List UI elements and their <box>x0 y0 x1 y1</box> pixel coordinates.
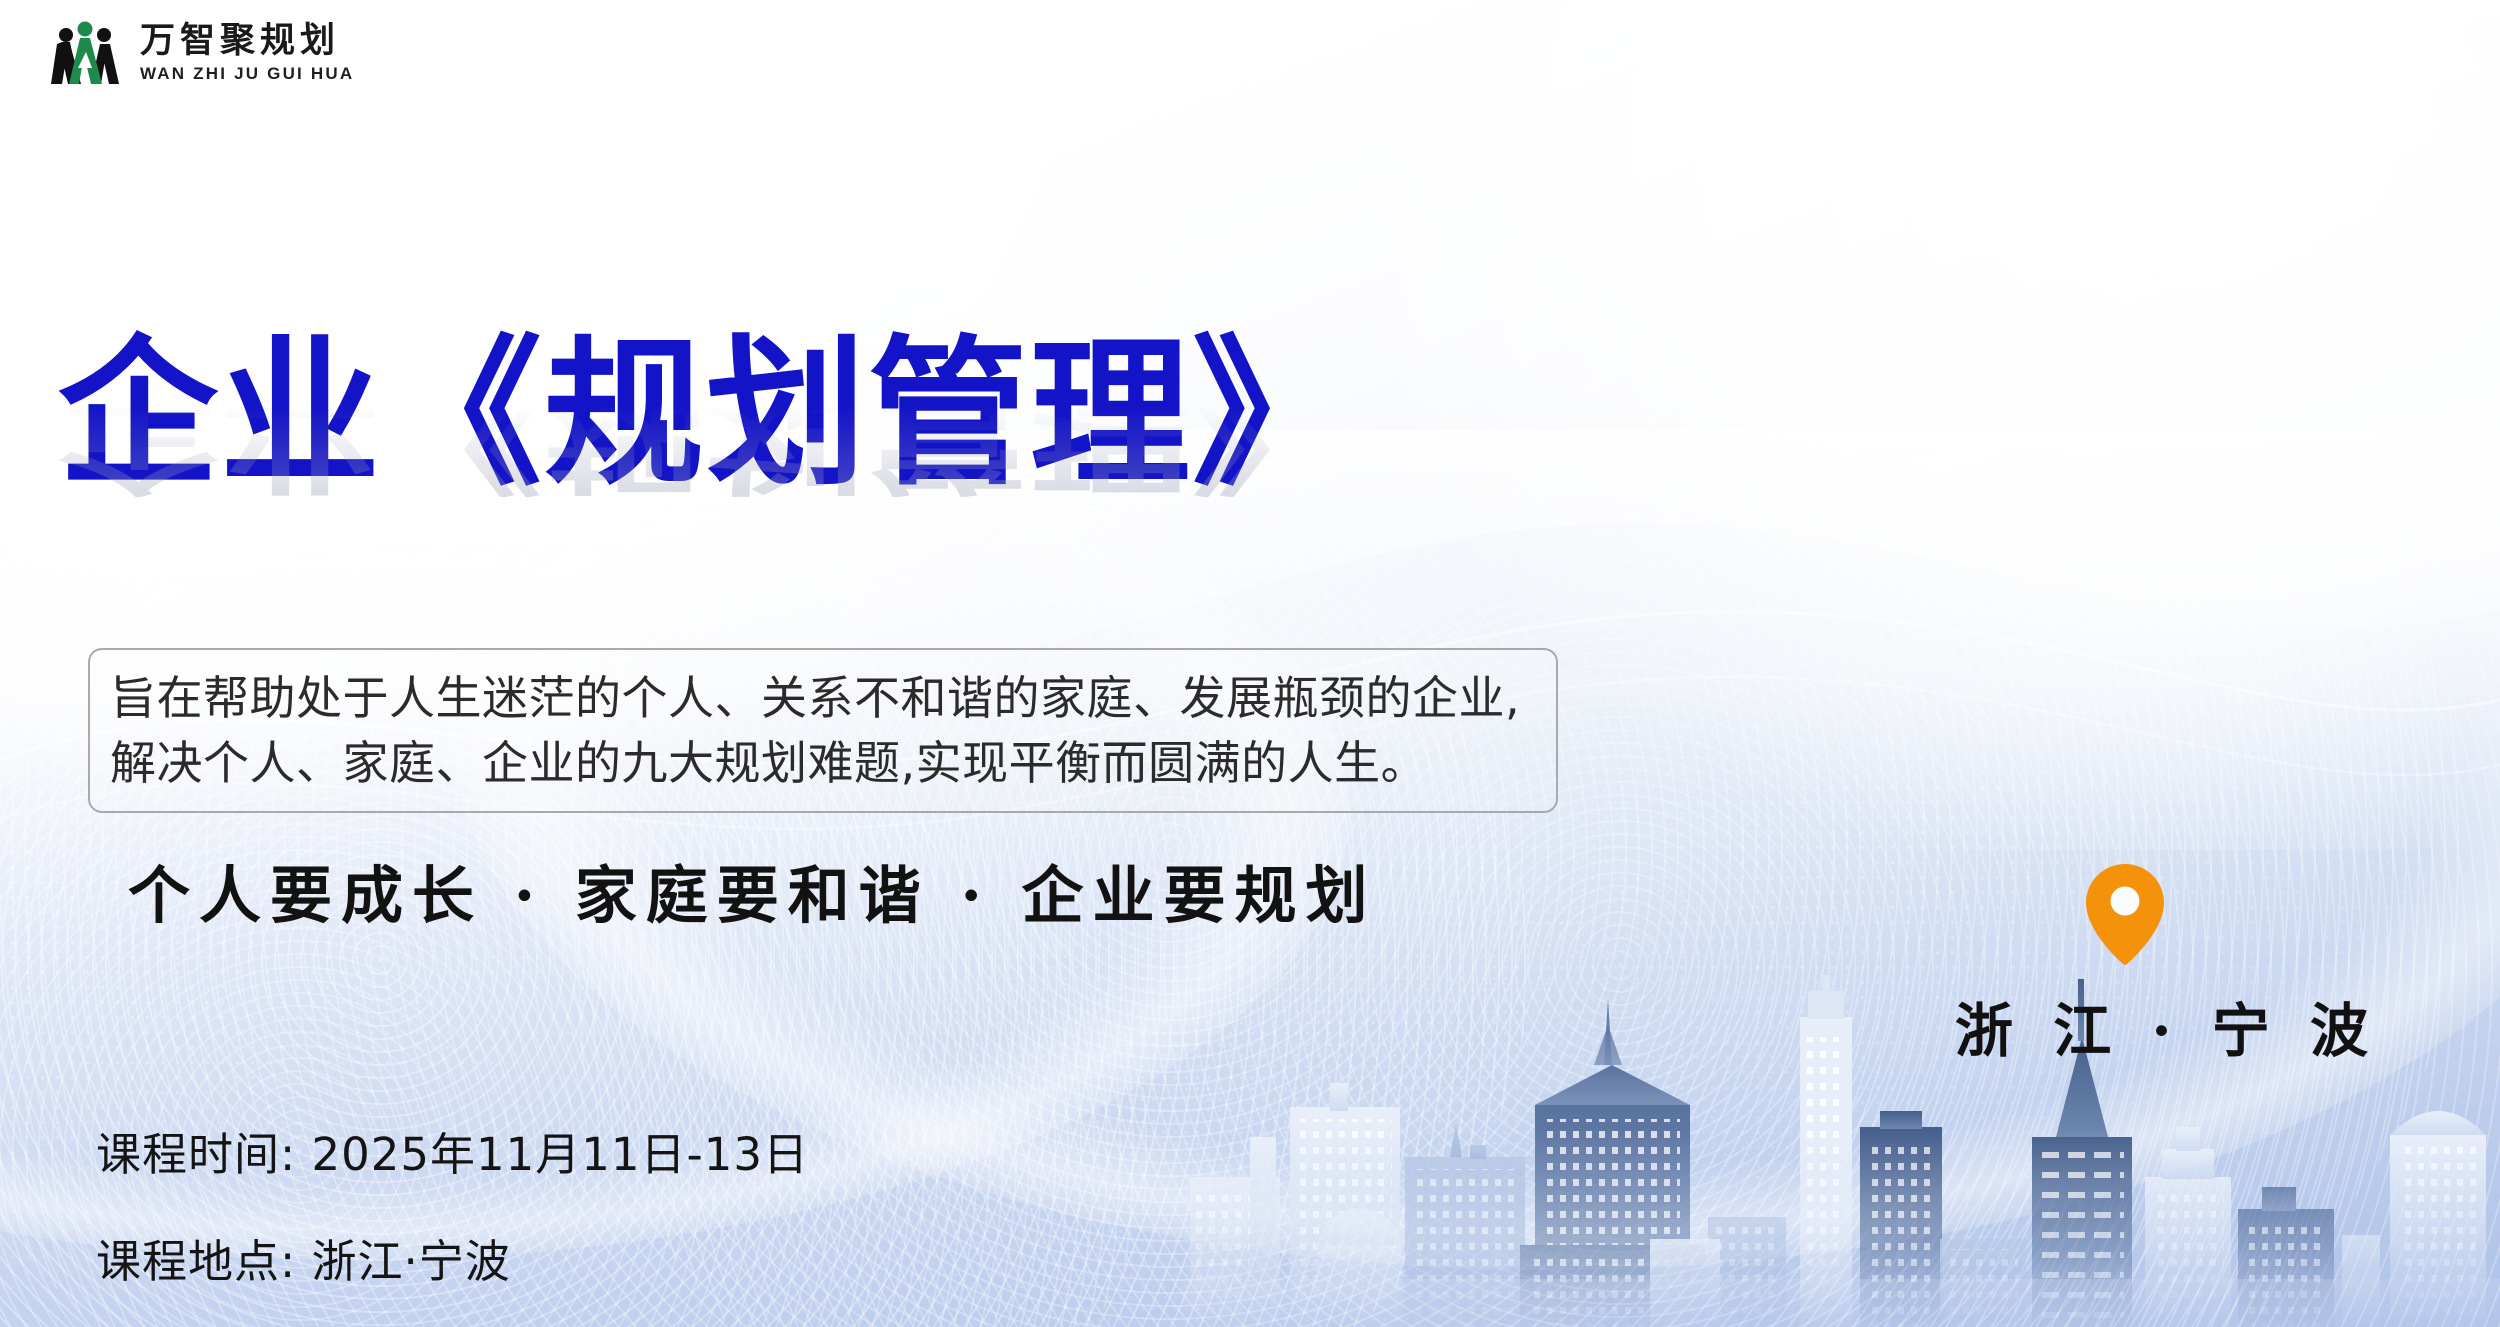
course-time: 课程时间: 2025年11月11日-13日 <box>96 1118 809 1183</box>
location-block: 浙 江 · 宁 波 <box>1955 862 2295 1068</box>
description-line-2: 解决个人、家庭、企业的九大规划难题,实现平衡而圆满的人生。 <box>110 731 1536 796</box>
brand-logo[interactable]: 万智聚规划 WAN ZHI JU GUI HUA <box>48 18 354 86</box>
course-place: 课程地点: 浙江·宁波 <box>96 1225 809 1290</box>
description-line-1: 旨在帮助处于人生迷茫的个人、关系不和谐的家庭、发展瓶颈的企业, <box>110 666 1536 731</box>
poster-canvas: 万智聚规划 WAN ZHI JU GUI HUA 企业《规划管理》 企业《规划管… <box>0 0 2500 1327</box>
hero-title-block: 企业《规划管理》 企业《规划管理》 <box>58 332 1618 660</box>
brand-name-cn: 万智聚规划 <box>140 23 354 58</box>
description-box: 旨在帮助处于人生迷茫的个人、关系不和谐的家庭、发展瓶颈的企业, 解决个人、家庭、… <box>88 648 1558 813</box>
page-title: 企业《规划管理》 <box>58 332 1618 495</box>
three-people-logo-icon <box>48 18 122 86</box>
slogan-text: 个人要成长 · 家庭要和谐 · 企业要规划 <box>128 845 1377 935</box>
location-city: 浙 江 · 宁 波 <box>1955 984 2295 1068</box>
city-skyline-graphic <box>1180 887 2500 1327</box>
map-pin-icon <box>2084 862 2166 966</box>
brand-name-pinyin: WAN ZHI JU GUI HUA <box>140 65 354 82</box>
course-info-block: 课程时间: 2025年11月11日-13日 课程地点: 浙江·宁波 <box>96 1118 809 1290</box>
